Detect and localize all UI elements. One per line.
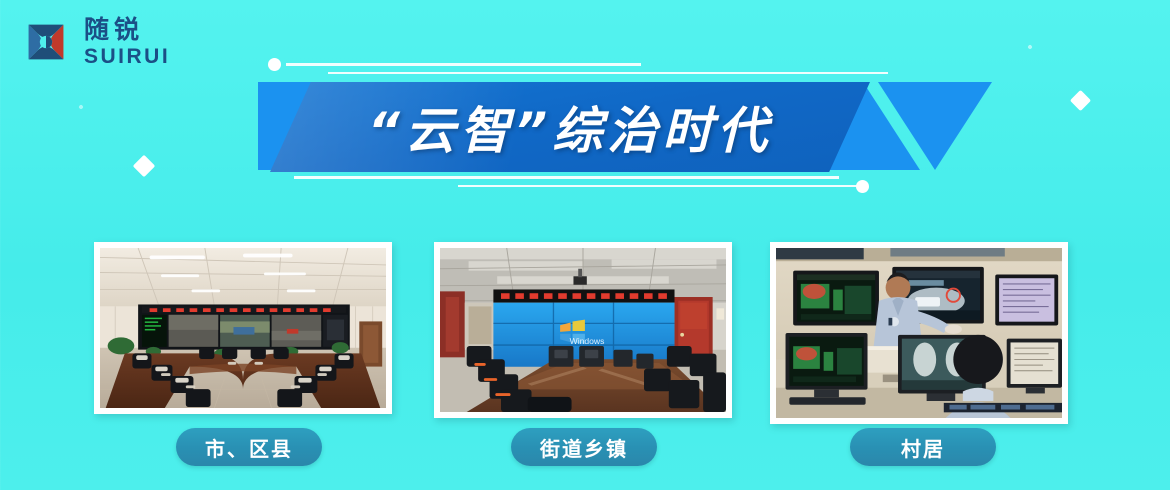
brand-wordmark: 随锐 SUIRUI (84, 17, 170, 67)
label-city-district-text: 市、区县 (205, 433, 293, 462)
decor-triangle-down (878, 82, 992, 170)
decor-dot-bottom-right (856, 180, 869, 193)
title-banner: “云智”综治时代 (258, 56, 948, 191)
photo-card-list: Windows (0, 238, 1170, 418)
brand-logo: 随锐 SUIRUI (18, 14, 170, 70)
suirui-pinwheel-logo-icon (18, 14, 74, 70)
photo-card-street-town[interactable]: Windows (434, 242, 732, 418)
decor-diamond-top-right (1027, 44, 1033, 50)
svg-text:Windows: Windows (570, 336, 605, 346)
brand-name-cn: 随锐 (84, 17, 170, 42)
village-monitoring-room-photo (776, 248, 1062, 418)
decor-rule-bottom-1 (294, 176, 839, 179)
command-center-conference-room-photo (100, 248, 386, 408)
label-street-town-text: 街道乡镇 (540, 433, 628, 462)
photo-card-village[interactable] (770, 242, 1068, 424)
decor-diamond-right (1070, 90, 1091, 111)
decor-rule-bottom-2 (458, 185, 858, 187)
label-village[interactable]: 村居 (850, 428, 996, 466)
page-title: “云智”综治时代 (270, 82, 870, 172)
brand-name-en: SUIRUI (84, 46, 170, 67)
slide-canvas: 随锐 SUIRUI “云智”综治时代 (0, 0, 1170, 490)
decor-dot-top-left (268, 58, 281, 71)
decor-rule-top-2 (328, 72, 888, 74)
decor-rule-top-1 (286, 63, 641, 66)
label-village-text: 村居 (901, 433, 945, 462)
label-street-town[interactable]: 街道乡镇 (511, 428, 657, 466)
photo-card-city-district[interactable] (94, 242, 392, 414)
decor-diamond-left (133, 155, 156, 178)
decor-diamond-mid-left (78, 104, 84, 110)
label-city-district[interactable]: 市、区县 (176, 428, 322, 466)
street-town-meeting-room-photo: Windows (440, 248, 726, 412)
